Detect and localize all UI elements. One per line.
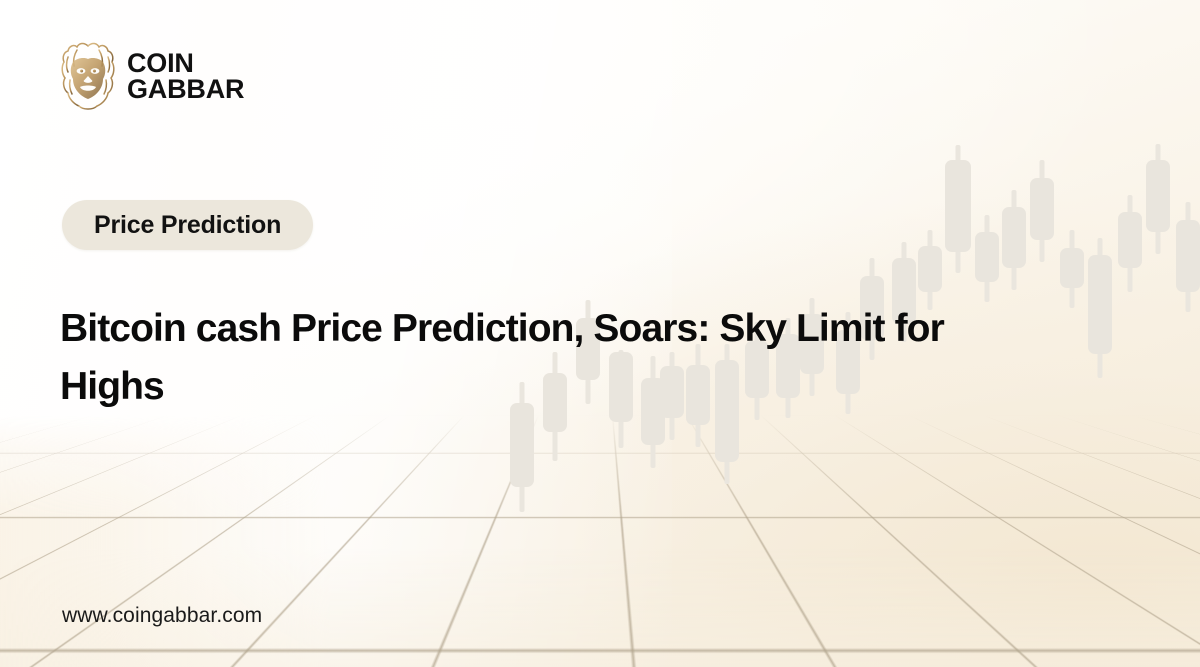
brand-name-line-2: GABBAR xyxy=(127,77,244,103)
candlestick-body xyxy=(1002,207,1026,268)
candlestick xyxy=(918,230,942,310)
candlestick xyxy=(975,215,999,302)
candlestick-body xyxy=(1146,160,1170,232)
brand-wordmark: COIN GABBAR xyxy=(127,51,244,103)
candlestick-body xyxy=(1118,212,1142,268)
lion-head-icon xyxy=(59,40,117,114)
promo-banner: COIN GABBAR Price Prediction Bitcoin cas… xyxy=(0,0,1200,667)
candlestick xyxy=(1002,190,1026,290)
page-title: Bitcoin cash Price Prediction, Soars: Sk… xyxy=(60,300,1050,416)
candlestick xyxy=(1176,202,1200,312)
candlestick-body xyxy=(918,246,942,292)
candlestick xyxy=(1146,144,1170,254)
candlestick-body xyxy=(975,232,999,282)
candlestick xyxy=(1060,230,1084,308)
site-url: www.coingabbar.com xyxy=(62,604,262,628)
candlestick-body xyxy=(1088,255,1112,354)
category-badge: Price Prediction xyxy=(62,200,313,250)
candlestick-body xyxy=(1030,178,1054,240)
candlestick-body xyxy=(1176,220,1200,292)
candlestick xyxy=(1030,160,1054,262)
candlestick xyxy=(1118,195,1142,292)
brand-logo: COIN GABBAR xyxy=(59,40,244,114)
candlestick-body xyxy=(945,160,971,252)
candlestick xyxy=(1088,238,1112,378)
category-badge-label: Price Prediction xyxy=(94,211,281,240)
candlestick xyxy=(945,145,971,273)
candlestick-body xyxy=(1060,248,1084,288)
